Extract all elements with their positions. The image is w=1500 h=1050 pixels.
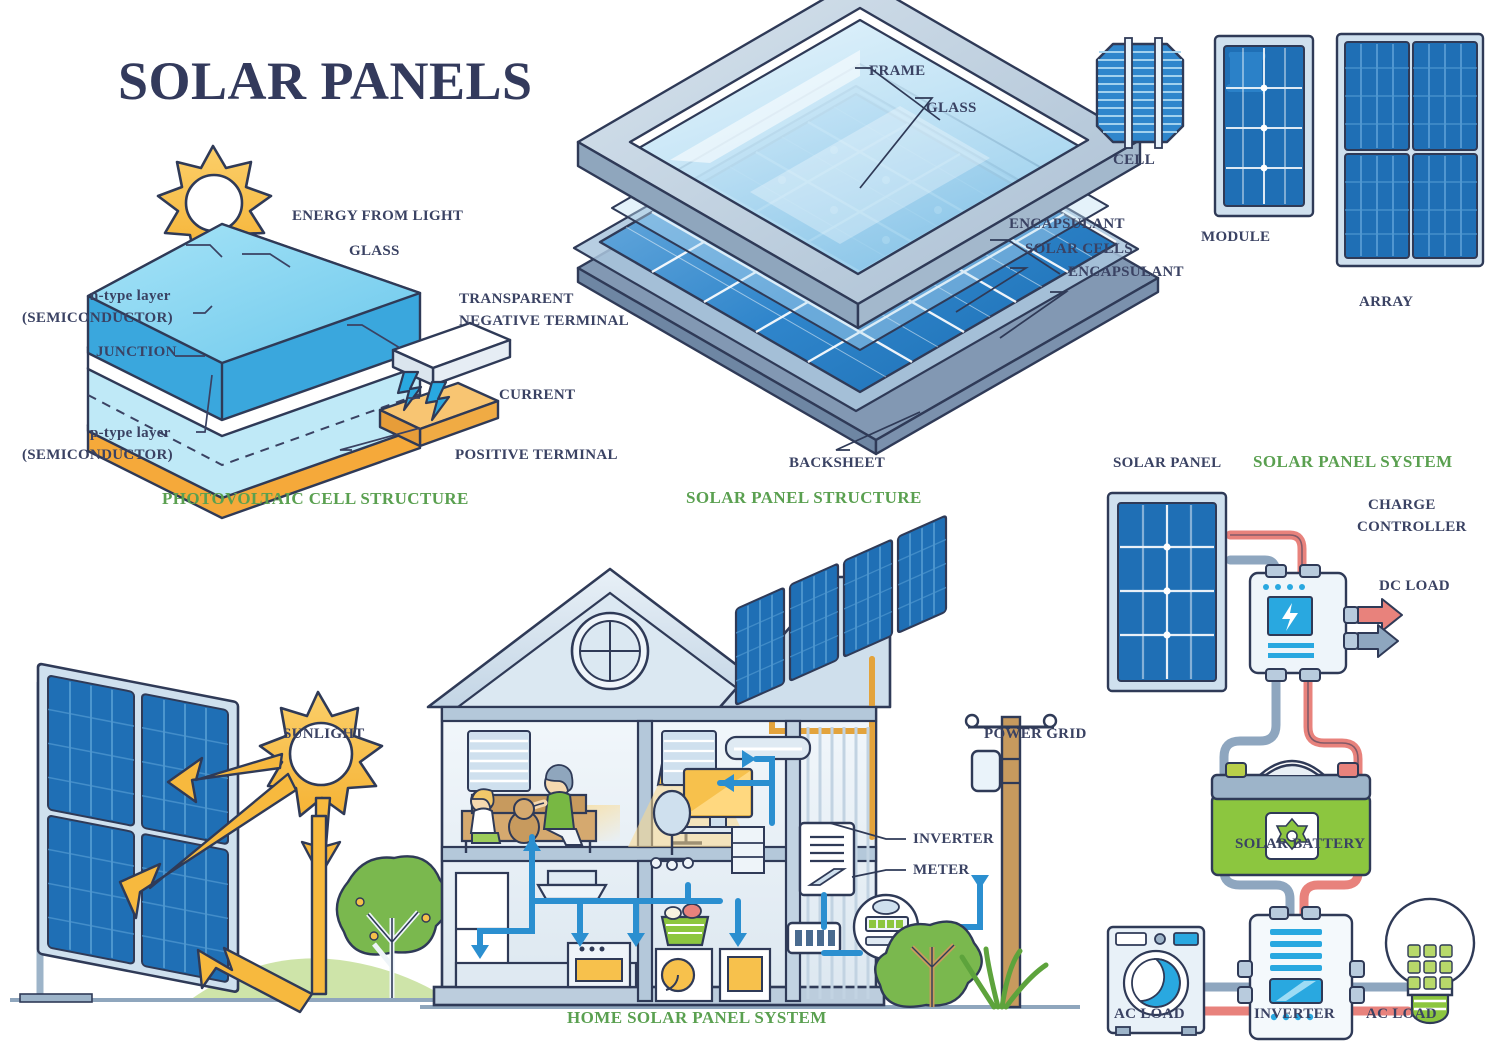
label-sunlight: SUNLIGHT (283, 726, 365, 743)
label-energy-from-light: ENERGY FROM LIGHT (292, 208, 463, 225)
sunlight-array-diagram (10, 650, 450, 1040)
label-system-inverter: INVERTER (1254, 1006, 1335, 1023)
label-p-type-line2: (SEMICONDUCTOR) (22, 447, 173, 464)
solar-panel-system-diagram (1090, 475, 1500, 1045)
label-charge-controller-2: CONTROLLER (1357, 519, 1467, 536)
label-ac-load-left: AC LOAD (1114, 1006, 1185, 1023)
label-backsheet: BACKSHEET (789, 455, 885, 472)
scale-cell-module-array (1075, 22, 1495, 322)
infographic-canvas: SOLAR PANELS (0, 0, 1500, 1050)
label-p-type-line1: p-type layer (90, 425, 171, 442)
label-array: ARRAY (1359, 294, 1413, 311)
label-panel-glass: GLASS (926, 100, 977, 117)
label-ac-load-right: AC LOAD (1366, 1006, 1437, 1023)
cell-graphic (1097, 38, 1183, 148)
label-charge-controller-1: CHARGE (1368, 497, 1436, 514)
breaker-box (788, 923, 840, 953)
label-dc-load: DC LOAD (1379, 578, 1450, 595)
label-meter: METER (913, 862, 970, 879)
tilted-solar-array (38, 663, 238, 992)
label-cell: CELL (1113, 152, 1155, 169)
label-power-grid: POWER GRID (984, 726, 1087, 743)
label-home-inverter: INVERTER (913, 831, 994, 848)
label-module: MODULE (1201, 229, 1270, 246)
label-n-type-line1: n-type layer (90, 288, 171, 305)
label-solar-panel: SOLAR PANEL (1113, 455, 1221, 472)
label-pv-glass: GLASS (349, 243, 400, 260)
label-junction: JUNCTION (96, 344, 177, 361)
caption-panel-structure: SOLAR PANEL STRUCTURE (686, 488, 922, 508)
caption-solar-panel-system: SOLAR PANEL SYSTEM (1253, 452, 1453, 472)
system-solar-panel (1108, 493, 1226, 691)
home-solar-system-diagram (420, 555, 1080, 1025)
label-frame: FRAME (869, 63, 926, 80)
array-graphic (1337, 34, 1483, 266)
ac-load-bulb (1386, 899, 1474, 1023)
home-leader-lines (790, 815, 910, 905)
solar-battery-device (1212, 761, 1370, 875)
label-n-type-line2: (SEMICONDUCTOR) (22, 310, 173, 327)
caption-home-system: HOME SOLAR PANEL SYSTEM (567, 1008, 827, 1028)
label-solar-battery: SOLAR BATTERY (1235, 836, 1365, 853)
page-title: SOLAR PANELS (118, 50, 533, 112)
label-transparent: TRANSPARENT (459, 291, 574, 308)
caption-photovoltaic: PHOTOVOLTAIC CELL STRUCTURE (162, 489, 469, 509)
module-graphic (1215, 36, 1313, 216)
